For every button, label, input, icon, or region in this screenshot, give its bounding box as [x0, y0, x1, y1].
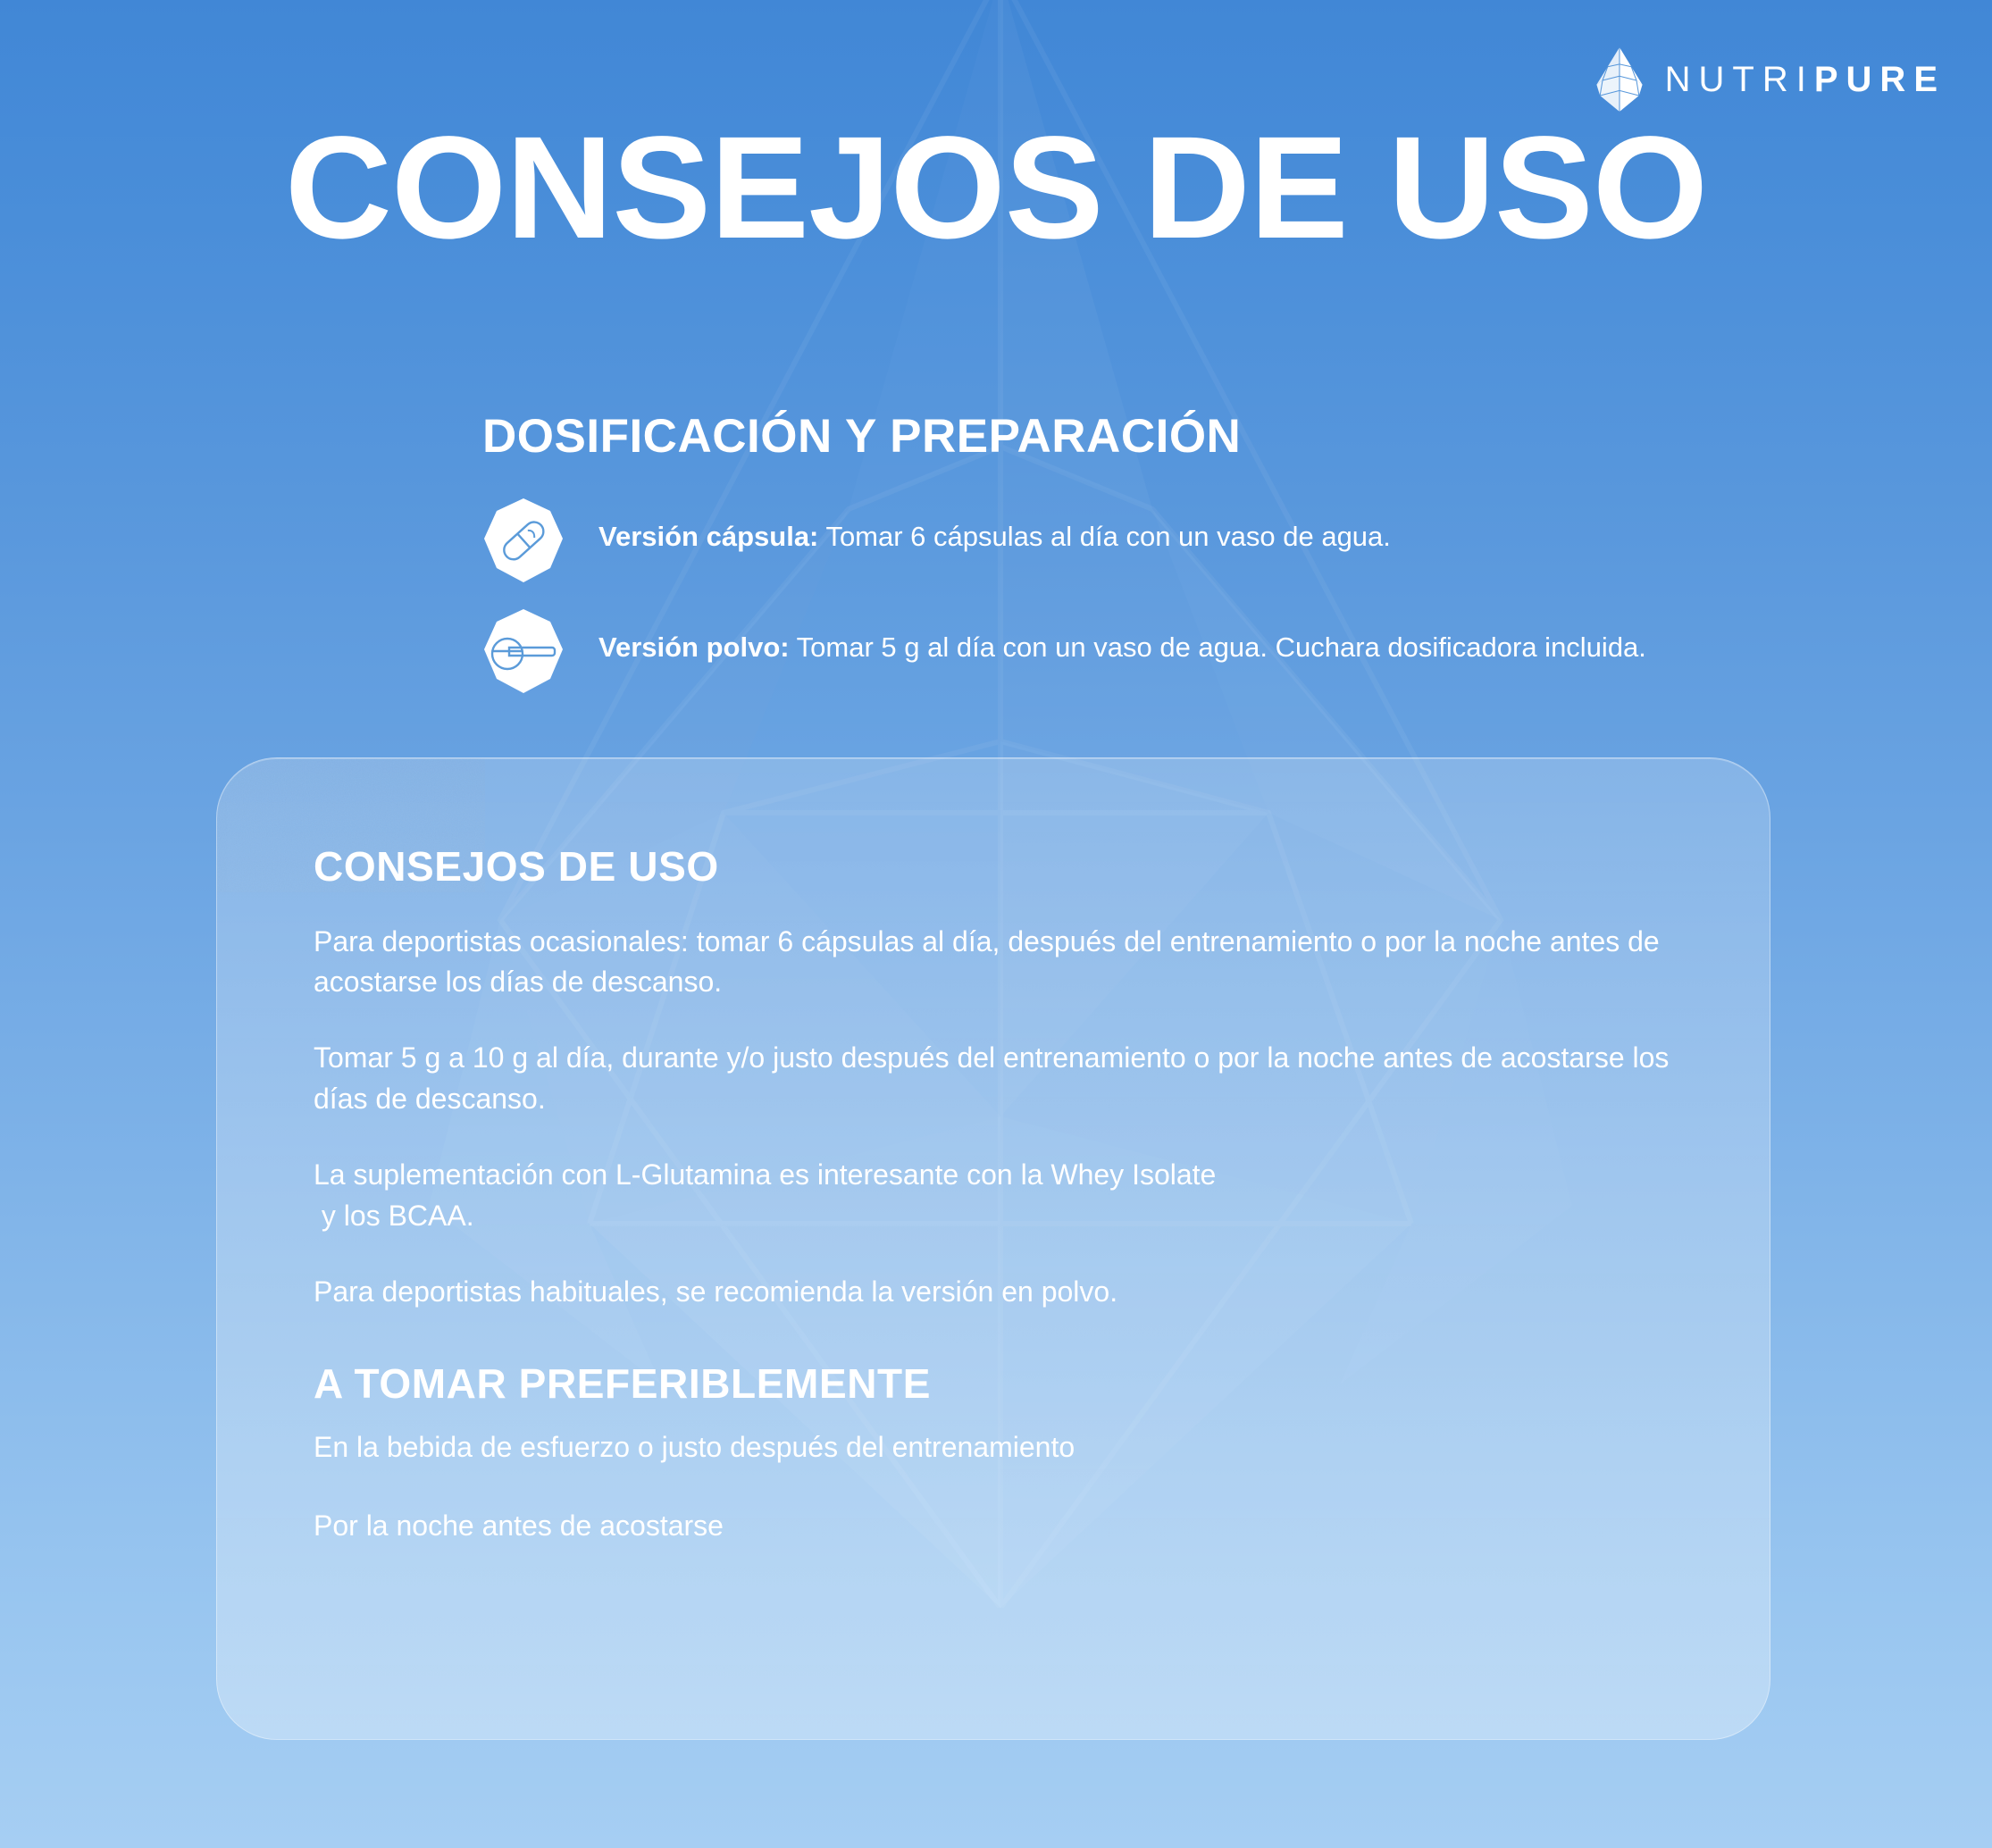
- dosage-section: DOSIFICACIÓN Y PREPARACIÓN Versión cápsu…: [482, 411, 1733, 718]
- tips-paragraph-2: Tomar 5 g a 10 g al día, durante y/o jus…: [314, 1038, 1671, 1119]
- dose-detail-powder: Tomar 5 g al día con un vaso de agua. Cu…: [790, 631, 1646, 663]
- dosage-section-title: DOSIFICACIÓN Y PREPARACIÓN: [482, 411, 1733, 463]
- usage-tips-card: CONSEJOS DE USO Para deportistas ocasion…: [216, 757, 1770, 1740]
- measuring-spoon-icon: [482, 607, 565, 697]
- capsule-icon: [482, 497, 565, 586]
- dose-detail-capsule: Tomar 6 cápsulas al día con un vaso de a…: [818, 521, 1391, 552]
- tips-paragraph-3: La suplementación con L-Glutamina es int…: [314, 1155, 1671, 1236]
- dose-text-powder: Versión polvo: Tomar 5 g al día con un v…: [598, 607, 1646, 667]
- leaf-gem-icon: [1594, 46, 1645, 113]
- preference-heading: A TOMAR PREFERIBLEMENTE: [314, 1361, 1671, 1407]
- tips-paragraph-4: Para deportistas habituales, se recomien…: [314, 1272, 1671, 1312]
- preference-line-1: En la bebida de esfuerzo o justo después…: [314, 1427, 1671, 1468]
- preference-line-2: Por la noche antes de acostarse: [314, 1506, 1671, 1546]
- brand-logo: NUTRIPURE: [1594, 46, 1946, 113]
- tips-paragraph-1: Para deportistas ocasionales: tomar 6 cá…: [314, 922, 1671, 1003]
- tips-heading: CONSEJOS DE USO: [314, 844, 1671, 890]
- dose-row-capsule: Versión cápsula: Tomar 6 cápsulas al día…: [482, 497, 1733, 586]
- brand-name-light: NUTRI: [1665, 60, 1814, 99]
- dose-label-powder: Versión polvo:: [598, 631, 790, 663]
- usage-tips-content: CONSEJOS DE USO Para deportistas ocasion…: [217, 758, 1770, 1546]
- dose-text-capsule: Versión cápsula: Tomar 6 cápsulas al día…: [598, 497, 1391, 556]
- page-title: CONSEJOS DE USO: [0, 114, 1992, 260]
- dose-row-powder: Versión polvo: Tomar 5 g al día con un v…: [482, 607, 1733, 697]
- poster-canvas: NUTRIPURE CONSEJOS DE USO DOSIFICACIÓN Y…: [0, 0, 1992, 1848]
- brand-wordmark: NUTRIPURE: [1665, 62, 1946, 97]
- dose-label-capsule: Versión cápsula:: [598, 521, 818, 552]
- brand-name-bold: PURE: [1814, 60, 1946, 99]
